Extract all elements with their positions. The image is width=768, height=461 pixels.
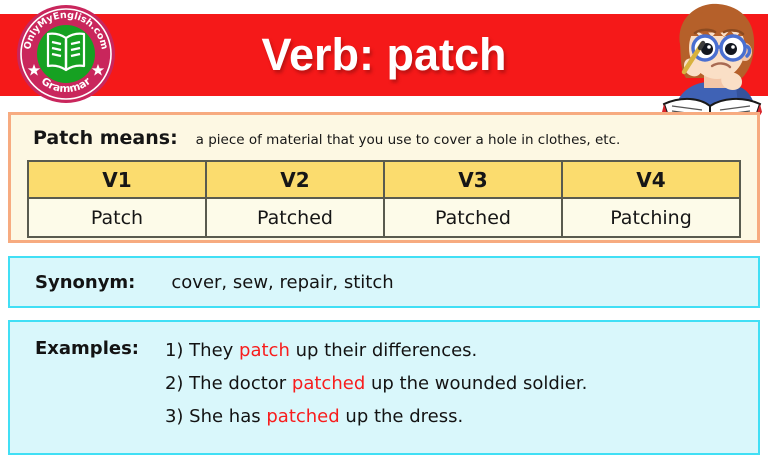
table-row: Patch Patched Patched Patching [28, 198, 740, 237]
definition-panel: Patch means: a piece of material that yo… [8, 112, 760, 243]
table-header-v2: V2 [206, 161, 384, 198]
site-logo: OnlyMyEnglish.com Grammar [14, 2, 118, 106]
verb-forms-table: V1 V2 V3 V4 Patch Patched Patched Patchi… [27, 160, 741, 238]
example-prefix: 1) They [165, 340, 239, 361]
examples-label: Examples: [35, 338, 139, 359]
definition-row: Patch means: a piece of material that yo… [11, 115, 757, 159]
table-cell-v4: Patching [562, 198, 740, 237]
example-suffix: up their differences. [290, 340, 477, 361]
example-suffix: up the dress. [340, 406, 464, 427]
example-suffix: up the wounded soldier. [365, 373, 587, 394]
example-prefix: 2) The doctor [165, 373, 292, 394]
examples-panel: Examples: 1) They patch up their differe… [8, 320, 760, 455]
synonym-label: Synonym: [35, 272, 135, 293]
header: Verb: patch OnlyMyEnglish.com Gr [0, 0, 768, 112]
list-item: 1) They patch up their differences. [165, 334, 587, 367]
example-highlight: patch [239, 340, 290, 361]
definition-text: a piece of material that you use to cove… [196, 120, 621, 148]
table-cell-v2: Patched [206, 198, 384, 237]
table-cell-v1: Patch [28, 198, 206, 237]
examples-list: 1) They patch up their differences. 2) T… [165, 334, 587, 433]
synonym-text: cover, sew, repair, stitch [171, 272, 393, 293]
table-header-v3: V3 [384, 161, 562, 198]
list-item: 3) She has patched up the dress. [165, 400, 587, 433]
list-item: 2) The doctor patched up the wounded sol… [165, 367, 587, 400]
table-header-row: V1 V2 V3 V4 [28, 161, 740, 198]
table-header-v4: V4 [562, 161, 740, 198]
example-prefix: 3) She has [165, 406, 266, 427]
table-header-v1: V1 [28, 161, 206, 198]
definition-label: Patch means: [33, 115, 178, 149]
example-highlight: patched [292, 373, 365, 394]
student-thinking-icon [650, 0, 768, 122]
example-highlight: patched [266, 406, 339, 427]
synonym-panel: Synonym: cover, sew, repair, stitch [8, 256, 760, 308]
table-cell-v3: Patched [384, 198, 562, 237]
